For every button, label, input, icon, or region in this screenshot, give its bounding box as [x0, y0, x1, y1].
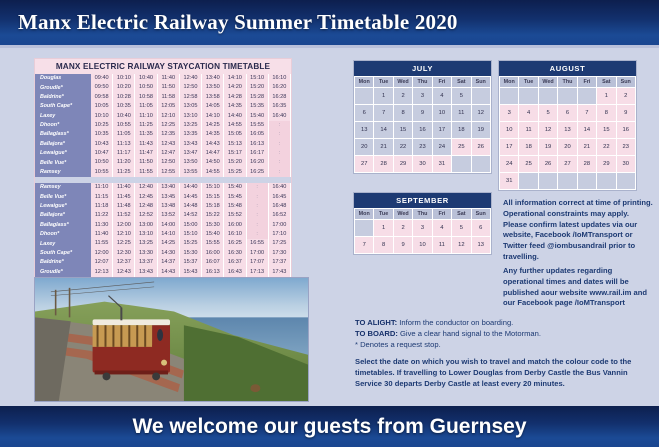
calendar-week-row: 6789101112: [355, 105, 491, 122]
alight-text: Inform the conductor on boarding.: [397, 318, 513, 327]
departure-time: 13:40: [157, 183, 179, 192]
timetable-row: Baldrine*09:5810:2810:5811:5812:5813:581…: [35, 93, 291, 102]
departure-time: 14:47: [202, 149, 224, 158]
departure-time: 11:40: [157, 74, 179, 83]
departure-time: 17:37: [268, 258, 290, 267]
boarding-instructions: TO ALIGHT: Inform the conductor on board…: [355, 318, 655, 350]
calendar-week-row: 17181920212223: [500, 139, 636, 156]
departure-time: 12:13: [91, 268, 113, 277]
departure-time: 17:10: [268, 230, 290, 239]
calendar-august-grid: MonTueWedThuFriSatSun1234567891011121314…: [499, 76, 636, 190]
calendar-day[interactable]: 17: [500, 139, 519, 156]
departure-time: 15:25: [179, 239, 201, 248]
calendar-day[interactable]: 9: [616, 105, 635, 122]
calendar-day[interactable]: 6: [355, 105, 374, 122]
request-stop-note: * Denotes a request stop.: [355, 340, 655, 351]
departure-time: 16:13: [246, 140, 268, 149]
station-name: Laxey: [35, 112, 91, 121]
calendar-day[interactable]: 6: [558, 105, 577, 122]
calendar-day[interactable]: 21: [374, 139, 393, 156]
timetable-row: Baldrine*12:0712:3713:3714:3715:3716:071…: [35, 258, 291, 267]
departure-time: 12:25: [113, 239, 135, 248]
calendar-day[interactable]: 5: [452, 88, 471, 105]
departure-time: 14:25: [157, 239, 179, 248]
departure-time: 16:10: [268, 74, 290, 83]
departure-time: 11:50: [135, 158, 157, 167]
calendar-july-title: JULY: [354, 61, 491, 76]
departure-time: 14:45: [179, 193, 201, 202]
departure-time: 14:10: [157, 230, 179, 239]
departure-time: 13:05: [179, 102, 201, 111]
departure-time: :: [246, 183, 268, 192]
calendar-day[interactable]: 27: [355, 156, 374, 173]
departure-time: 16:35: [268, 102, 290, 111]
calendar-day[interactable]: 7: [355, 237, 374, 254]
calendar-day[interactable]: 22: [597, 139, 616, 156]
departure-time: 17:43: [268, 268, 290, 277]
timetable-row: Ramsey10:5511:2511:5512:5513:5514:5515:2…: [35, 168, 291, 177]
calendar-day[interactable]: 8: [597, 105, 616, 122]
departure-time: 15:20: [224, 158, 246, 167]
calendar-dayname: Thu: [558, 77, 577, 88]
calendar-day[interactable]: 13: [355, 122, 374, 139]
departure-time: 11:18: [91, 202, 113, 211]
station-name: South Cape*: [35, 249, 91, 258]
calendar-day[interactable]: 3: [500, 105, 519, 122]
station-name: Belle Vue*: [35, 193, 91, 202]
calendar-day[interactable]: 19: [471, 122, 490, 139]
calendar-dayname: Tue: [374, 209, 393, 220]
footer-text: We welcome our guests from Guernsey: [132, 415, 526, 439]
calendar-day[interactable]: 2: [616, 88, 635, 105]
departure-time: 16:20: [246, 158, 268, 167]
departure-time: 17:30: [268, 249, 290, 258]
calendar-day[interactable]: 7: [374, 105, 393, 122]
departure-time: 16:37: [224, 258, 246, 267]
departure-time: 12:43: [157, 140, 179, 149]
departure-time: 16:07: [202, 258, 224, 267]
departure-time: 10:50: [135, 83, 157, 92]
calendar-day-empty: [471, 156, 490, 173]
calendar-september-title: SEPTEMBER: [354, 193, 491, 208]
departure-time: 10:55: [113, 121, 135, 130]
departure-time: 12:10: [113, 230, 135, 239]
calendar-day[interactable]: 26: [538, 156, 557, 173]
departure-time: 11:40: [113, 183, 135, 192]
departure-time: 15:40: [246, 112, 268, 121]
updates-note: Any further updates regarding operationa…: [503, 266, 655, 309]
timetable-row: Laxey11:5512:2513:2514:2515:2515:5516:25…: [35, 239, 291, 248]
departure-time: 15:05: [224, 130, 246, 139]
calendar-week-row: 12: [500, 88, 636, 105]
departure-time: 12:40: [135, 183, 157, 192]
calendar-day[interactable]: 25: [452, 139, 471, 156]
calendar-day-empty: [558, 173, 577, 190]
departure-time: 13:45: [157, 193, 179, 202]
calendar-day[interactable]: 24: [500, 156, 519, 173]
departure-time: 10:55: [91, 168, 113, 177]
departure-time: 13:52: [157, 211, 179, 220]
calendar-week-row: 12345: [355, 88, 491, 105]
timetable-row: Ramsey11:1011:4012:4013:4014:4015:1015:4…: [35, 183, 291, 192]
calendar-day[interactable]: 6: [471, 220, 490, 237]
calendar-day-empty: [500, 88, 519, 105]
departure-time: 14:40: [224, 112, 246, 121]
station-name: Douglas: [35, 74, 91, 83]
calendar-dayname: Sat: [597, 77, 616, 88]
calendar-day-empty: [558, 88, 577, 105]
departure-time: :: [246, 221, 268, 230]
calendar-day[interactable]: 5: [452, 220, 471, 237]
timetable-row: Dhoon*11:4012:1013:1014:1015:1015:4016:1…: [35, 230, 291, 239]
departure-time: 15:28: [246, 93, 268, 102]
calendar-day-empty: [616, 173, 635, 190]
calendar-day[interactable]: 22: [393, 139, 412, 156]
station-name: Lewaigue*: [35, 149, 91, 158]
departure-time: 11:55: [135, 168, 157, 177]
calendar-day[interactable]: 2: [393, 88, 412, 105]
timetable-row: South Cape*10:0510:3511:0512:0513:0514:0…: [35, 102, 291, 111]
departure-time: 13:10: [135, 230, 157, 239]
departure-time: :: [246, 230, 268, 239]
departure-time: 12:35: [157, 130, 179, 139]
departure-time: 16:05: [246, 130, 268, 139]
calendar-day[interactable]: 31: [432, 156, 451, 173]
calendar-day[interactable]: 26: [471, 139, 490, 156]
departure-time: 15:22: [202, 211, 224, 220]
calendar-day[interactable]: 28: [374, 156, 393, 173]
departure-time: 16:55: [246, 239, 268, 248]
departure-time: 15:17: [224, 149, 246, 158]
calendar-dayname: Sat: [452, 77, 471, 88]
departure-time: :: [268, 121, 290, 130]
timetable-up: Ramsey11:1011:4012:4013:4014:4015:1015:4…: [35, 183, 291, 286]
calendar-day[interactable]: 12: [471, 105, 490, 122]
departure-time: 17:13: [246, 268, 268, 277]
calendar-august-title: AUGUST: [499, 61, 636, 76]
departure-time: 10:20: [113, 83, 135, 92]
calendar-dayname: Mon: [355, 77, 374, 88]
calendar-day[interactable]: 30: [413, 156, 432, 173]
departure-time: 15:13: [224, 140, 246, 149]
departure-time: 16:13: [202, 268, 224, 277]
timetable-row: Lewaigue*10:4711:1711:4712:4713:4714:471…: [35, 149, 291, 158]
timetable-row: Douglas09:4010:1010:4011:4012:4013:4014:…: [35, 74, 291, 83]
calendar-day[interactable]: 16: [616, 122, 635, 139]
calendar-day[interactable]: 19: [538, 139, 557, 156]
calendar-day[interactable]: 4: [432, 88, 451, 105]
departure-time: 14:52: [179, 211, 201, 220]
station-name: Ballajora*: [35, 211, 91, 220]
departure-time: 11:45: [113, 193, 135, 202]
departure-time: 14:10: [224, 74, 246, 83]
station-name: Belle Vue*: [35, 158, 91, 167]
departure-time: 11:30: [91, 221, 113, 230]
departure-time: 15:55: [246, 121, 268, 130]
departure-time: 12:07: [91, 258, 113, 267]
departure-time: 11:55: [91, 239, 113, 248]
departure-time: 13:25: [135, 239, 157, 248]
station-name: Ramsey: [35, 168, 91, 177]
calendar-day-empty: [355, 88, 374, 105]
departure-time: 15:55: [202, 239, 224, 248]
calendar-day[interactable]: 8: [374, 237, 393, 254]
departure-time: 11:40: [91, 230, 113, 239]
board-text: Give a clear hand signal to the Motorman…: [398, 329, 541, 338]
calendar-day[interactable]: 14: [374, 122, 393, 139]
calendar-day-empty: [577, 173, 596, 190]
departure-time: 12:10: [157, 112, 179, 121]
departure-time: 12:05: [157, 102, 179, 111]
departure-time: 12:37: [113, 258, 135, 267]
calendar-day[interactable]: 9: [413, 105, 432, 122]
calendar-day[interactable]: 5: [538, 105, 557, 122]
timetable-panel: MANX ELECTRIC RAILWAY STAYCATION TIMETAB…: [34, 58, 292, 287]
departure-time: 17:07: [246, 258, 268, 267]
calendar-dayname: Sun: [471, 77, 490, 88]
calendar-day-empty: [471, 88, 490, 105]
calendar-day[interactable]: 24: [432, 139, 451, 156]
calendar-day[interactable]: 15: [597, 122, 616, 139]
departure-time: 13:25: [179, 121, 201, 130]
departure-time: 15:43: [179, 268, 201, 277]
calendar-dayname: Fri: [577, 77, 596, 88]
calendar-day-empty: [519, 173, 538, 190]
calendar-dayname: Fri: [432, 77, 451, 88]
departure-time: 14:35: [202, 130, 224, 139]
calendar-day[interactable]: 11: [519, 122, 538, 139]
calendar-day-empty: [597, 173, 616, 190]
timetable-row: Groudle*09:5010:2010:5011:5012:5013:5014…: [35, 83, 291, 92]
calendar-day[interactable]: 11: [452, 105, 471, 122]
station-name: Dhoon*: [35, 121, 91, 130]
calendar-week-row: 78910111213: [355, 237, 491, 254]
departure-time: 13:47: [179, 149, 201, 158]
departure-time: 13:48: [157, 202, 179, 211]
departure-time: 15:00: [179, 221, 201, 230]
departure-time: 13:58: [202, 93, 224, 102]
calendar-day[interactable]: 3: [413, 88, 432, 105]
calendar-day[interactable]: 10: [413, 237, 432, 254]
departure-time: 10:10: [91, 112, 113, 121]
departure-time: 12:00: [91, 249, 113, 258]
timetable-row: South Cape*12:0012:3013:3014:3015:3016:0…: [35, 249, 291, 258]
departure-time: :: [268, 168, 290, 177]
calendar-week-row: 31: [500, 173, 636, 190]
departure-time: :: [268, 130, 290, 139]
departure-time: 16:52: [268, 211, 290, 220]
departure-time: 17:00: [246, 249, 268, 258]
departure-time: 11:13: [113, 140, 135, 149]
calendar-week-row: 3456789: [500, 105, 636, 122]
departure-time: 13:30: [135, 249, 157, 258]
departure-time: 16:48: [268, 202, 290, 211]
calendar-day[interactable]: 7: [577, 105, 596, 122]
page-footer: We welcome our guests from Guernsey: [0, 406, 659, 447]
calendar-day[interactable]: 20: [355, 139, 374, 156]
calendar-dayname: Tue: [519, 77, 538, 88]
departure-time: 12:30: [113, 249, 135, 258]
calendar-day[interactable]: 1: [597, 88, 616, 105]
header-divider: [0, 45, 659, 48]
departure-time: 13:43: [135, 268, 157, 277]
calendar-day[interactable]: 3: [413, 220, 432, 237]
page-title: Manx Electric Railway Summer Timetable 2…: [18, 10, 458, 35]
departure-time: 15:40: [202, 230, 224, 239]
station-name: Baldrine*: [35, 258, 91, 267]
departure-time: 11:58: [157, 93, 179, 102]
calendar-day[interactable]: 20: [558, 139, 577, 156]
departure-time: 16:30: [224, 249, 246, 258]
departure-time: 10:58: [135, 93, 157, 102]
station-name: Groudle*: [35, 268, 91, 277]
calendar-day[interactable]: 12: [538, 122, 557, 139]
station-name: Baldrine*: [35, 93, 91, 102]
calendar-day[interactable]: 15: [393, 122, 412, 139]
departure-time: 12:50: [157, 158, 179, 167]
calendar-dayname: Tue: [374, 77, 393, 88]
departure-time: 11:05: [113, 130, 135, 139]
departure-time: 14:40: [179, 183, 201, 192]
board-line: TO BOARD: Give a clear hand signal to th…: [355, 329, 655, 340]
departure-time: :: [268, 140, 290, 149]
departure-time: 09:58: [91, 93, 113, 102]
departure-time: 10:10: [113, 74, 135, 83]
alight-line: TO ALIGHT: Inform the conductor on board…: [355, 318, 655, 329]
calendar-day[interactable]: 17: [432, 122, 451, 139]
departure-time: 14:48: [179, 202, 201, 211]
calendar-day[interactable]: 18: [452, 122, 471, 139]
calendar-day[interactable]: 4: [519, 105, 538, 122]
calendar-day[interactable]: 10: [432, 105, 451, 122]
calendar-day[interactable]: 10: [500, 122, 519, 139]
calendar-day[interactable]: 29: [393, 156, 412, 173]
calendar-day-empty: [519, 88, 538, 105]
calendar-day-empty: [355, 220, 374, 237]
calendar-day[interactable]: 28: [577, 156, 596, 173]
calendar-day[interactable]: 14: [577, 122, 596, 139]
station-name: Laxey: [35, 239, 91, 248]
timetable-row: Ballaglass*11:3012:0013:0014:0015:0015:3…: [35, 221, 291, 230]
departure-time: 12:00: [113, 221, 135, 230]
calendar-dayname: Wed: [393, 209, 412, 220]
departure-time: 15:25: [224, 168, 246, 177]
departure-time: 16:40: [268, 112, 290, 121]
departure-time: 15:18: [202, 202, 224, 211]
departure-time: 16:10: [224, 230, 246, 239]
departure-time: 17:00: [268, 221, 290, 230]
departure-time: 09:40: [91, 74, 113, 83]
departure-time: 11:20: [113, 158, 135, 167]
departure-time: 11:10: [135, 112, 157, 121]
departure-time: 14:35: [224, 102, 246, 111]
calendar-day[interactable]: 8: [393, 105, 412, 122]
calendar-day[interactable]: 23: [413, 139, 432, 156]
calendar-week-row: 13141516171819: [355, 122, 491, 139]
departure-time: 15:30: [179, 249, 201, 258]
calendar-dayname: Sun: [471, 209, 490, 220]
departure-time: 13:43: [179, 140, 201, 149]
departure-time: 10:28: [113, 93, 135, 102]
timetable-row: Belle Vue*11:1511:4512:4513:4514:4515:15…: [35, 193, 291, 202]
disclaimer-note: All information correct at time of print…: [503, 198, 655, 263]
calendar-day[interactable]: 25: [519, 156, 538, 173]
board-label: TO BOARD:: [355, 329, 398, 338]
calendar-dayname: Wed: [538, 77, 557, 88]
calendar-dayname: Sat: [452, 209, 471, 220]
timetable-title: MANX ELECTRIC RAILWAY STAYCATION TIMETAB…: [35, 59, 291, 74]
calendar-day[interactable]: 27: [558, 156, 577, 173]
departure-time: 10:47: [91, 149, 113, 158]
departure-time: 11:47: [135, 149, 157, 158]
calendar-week-row: 123456: [355, 220, 491, 237]
timetable-row: Groudle*12:1312:4313:4314:4315:4316:1316…: [35, 268, 291, 277]
calendar-day[interactable]: 13: [558, 122, 577, 139]
calendar-day[interactable]: 2: [393, 220, 412, 237]
calendar-dayname: Mon: [500, 77, 519, 88]
departure-time: 15:15: [202, 193, 224, 202]
calendar-week-row: 2728293031: [355, 156, 491, 173]
calendar-day[interactable]: 1: [374, 88, 393, 105]
calendar-day[interactable]: 29: [597, 156, 616, 173]
departure-time: :: [246, 202, 268, 211]
calendar-day[interactable]: 21: [577, 139, 596, 156]
departure-time: 15:30: [202, 221, 224, 230]
calendar-day[interactable]: 12: [452, 237, 471, 254]
departure-time: 12:58: [179, 93, 201, 102]
calendar-day[interactable]: 31: [500, 173, 519, 190]
calendar-dayname: Mon: [355, 209, 374, 220]
calendar-day[interactable]: 4: [432, 220, 451, 237]
calendar-day[interactable]: 16: [413, 122, 432, 139]
departure-time: 12:45: [135, 193, 157, 202]
departure-time: 10:35: [113, 102, 135, 111]
departure-time: 15:35: [246, 102, 268, 111]
departure-time: :: [246, 211, 268, 220]
calendar-day[interactable]: 9: [393, 237, 412, 254]
departure-time: 16:25: [246, 168, 268, 177]
calendar-day[interactable]: 18: [519, 139, 538, 156]
departure-time: 16:28: [268, 93, 290, 102]
departure-time: 10:35: [91, 130, 113, 139]
departure-time: 13:50: [179, 158, 201, 167]
departure-time: 12:43: [113, 268, 135, 277]
departure-time: 17:25: [268, 239, 290, 248]
departure-time: 15:45: [224, 193, 246, 202]
calendar-day[interactable]: 23: [616, 139, 635, 156]
calendar-day[interactable]: 1: [374, 220, 393, 237]
departure-time: 15:48: [224, 202, 246, 211]
departure-time: 14:43: [202, 140, 224, 149]
departure-time: 11:22: [91, 211, 113, 220]
departure-time: 14:28: [224, 93, 246, 102]
departure-time: 15:20: [246, 83, 268, 92]
departure-time: 16:40: [268, 183, 290, 192]
departure-time: 13:55: [179, 168, 201, 177]
departure-time: 11:43: [135, 140, 157, 149]
departure-time: 16:17: [246, 149, 268, 158]
calendar-day[interactable]: 13: [471, 237, 490, 254]
calendar-day[interactable]: 30: [616, 156, 635, 173]
station-name: Groudle*: [35, 83, 91, 92]
departure-time: 13:37: [135, 258, 157, 267]
calendar-day[interactable]: 11: [432, 237, 451, 254]
departure-time: 11:10: [91, 183, 113, 192]
departure-time: 16:43: [224, 268, 246, 277]
station-name: Ballajora*: [35, 140, 91, 149]
page-header: Manx Electric Railway Summer Timetable 2…: [0, 0, 659, 45]
departure-time: 11:15: [91, 193, 113, 202]
